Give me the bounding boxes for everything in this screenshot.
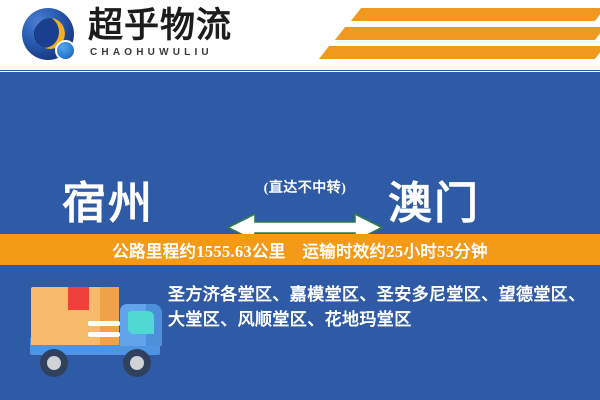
route-panel: 宿州 (直达不中转) 【往返运输】 澳门 [0, 72, 600, 234]
logo-circle-crescent-icon [22, 8, 80, 66]
header-divider [0, 70, 600, 71]
truck-window [128, 311, 154, 334]
stripe-1 [351, 8, 600, 21]
destination-city: 澳门 [388, 167, 480, 231]
route-note-top: (直达不中转) [232, 180, 378, 198]
delivery-truck-icon [28, 279, 168, 379]
stripe-2 [335, 27, 600, 40]
origin-city: 宿州 [62, 167, 154, 231]
route-note-top-wrap: (直达不中转) [232, 180, 378, 198]
truck-hub-front [130, 356, 144, 370]
route-info-bar: 公路里程约1555.63公里 运输时效约25小时55分钟 [0, 234, 600, 265]
destination-districts-text: 圣方济各堂区、嘉模堂区、圣安多尼堂区、望德堂区、大堂区、风顺堂区、花地玛堂区 [168, 282, 586, 332]
brand-logo[interactable]: 超乎物流 CHAOHUWULIU [22, 6, 280, 66]
truck-hub-rear [47, 356, 61, 370]
truck-cargo-red-stripe [68, 287, 89, 310]
route-info-text: 公路里程约1555.63公里 运输时效约25小时55分钟 [112, 238, 488, 262]
header: 超乎物流 CHAOHUWULIU [0, 0, 600, 71]
stripe-3 [319, 46, 600, 59]
truck-stripe-1 [88, 321, 120, 326]
brand-text-block: 超乎物流 CHAOHUWULIU [88, 6, 278, 60]
brand-name-en: CHAOHUWULIU [88, 46, 278, 60]
brand-name-cn: 超乎物流 [88, 6, 278, 46]
logistics-route-banner: 超乎物流 CHAOHUWULIU 宿州 (直达不中转) 【往返运输】 澳门 公路… [0, 0, 600, 400]
orange-diagonal-stripes-icon [300, 0, 600, 71]
logo-dot-shape [55, 40, 76, 61]
truck-stripe-2 [88, 332, 120, 337]
destination-panel: 圣方济各堂区、嘉模堂区、圣安多尼堂区、望德堂区、大堂区、风顺堂区、花地玛堂区 [0, 265, 600, 400]
